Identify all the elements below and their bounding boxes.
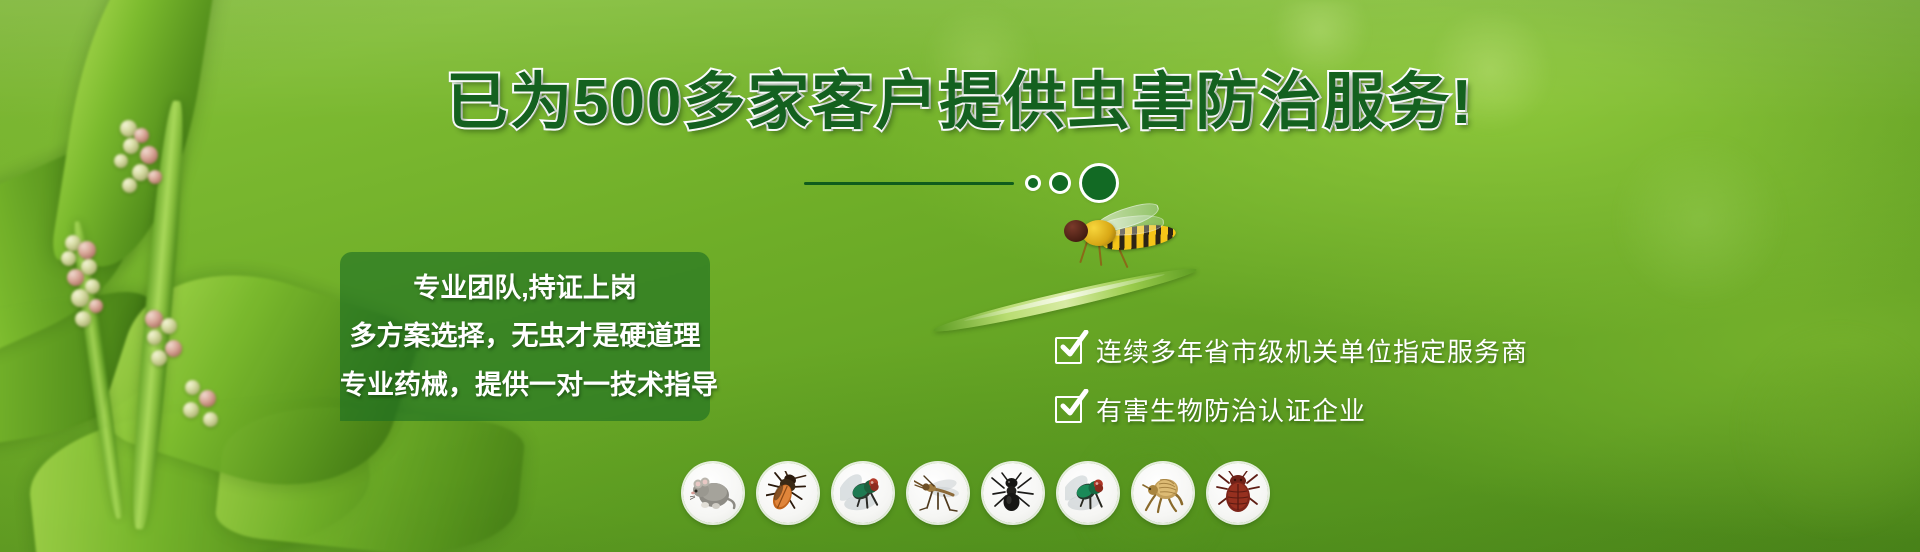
fly-icon[interactable] (833, 463, 893, 523)
dot-large-icon (1082, 166, 1116, 200)
checklist-item-label: 有害生物防治认证企业 (1096, 391, 1366, 428)
blowfly-icon[interactable] (1058, 463, 1118, 523)
decorative-separator (0, 160, 1920, 206)
dot-medium-icon (1052, 175, 1068, 191)
checklist-item: 连续多年省市级机关单位指定服务商 (1055, 332, 1528, 369)
banner-headline-text: 已为500多家客户提供虫害防治服务! (446, 68, 1474, 137)
feature-line-1: 专业团队,持证上岗 (340, 268, 710, 316)
flea-icon[interactable] (1133, 463, 1193, 523)
leaf-stem (932, 262, 1199, 338)
pest-control-banner: 已为500多家客户提供虫害防治服务! 专业团队,持证上岗 多方案选择，无虫才是硬… (0, 0, 1920, 552)
pest-icon-row (683, 463, 1268, 523)
feature-line-2: 多方案选择，无虫才是硬道理 (340, 316, 710, 364)
credential-checklist: 连续多年省市级机关单位指定服务商 有害生物防治认证企业 (1055, 332, 1528, 428)
checklist-item-label: 连续多年省市级机关单位指定服务商 (1096, 332, 1528, 369)
banner-headline: 已为500多家客户提供虫害防治服务! (0, 72, 1920, 134)
horizontal-rule-icon (804, 182, 1014, 185)
feature-panel: 专业团队,持证上岗 多方案选择，无虫才是硬道理 专业药械，提供一对一技术指导 (340, 252, 710, 421)
mosquito-icon[interactable] (908, 463, 968, 523)
feature-line-3: 专业药械，提供一对一技术指导 (340, 365, 710, 401)
checklist-item: 有害生物防治认证企业 (1055, 391, 1528, 428)
mouse-icon[interactable] (683, 463, 743, 523)
checkbox-checked-icon (1055, 337, 1082, 364)
cockroach-icon[interactable] (758, 463, 818, 523)
hoverfly-icon (1058, 212, 1178, 266)
ant-icon[interactable] (983, 463, 1043, 523)
dot-small-icon (1028, 178, 1038, 188)
bedbug-icon[interactable] (1208, 463, 1268, 523)
checkbox-checked-icon (1055, 396, 1082, 423)
